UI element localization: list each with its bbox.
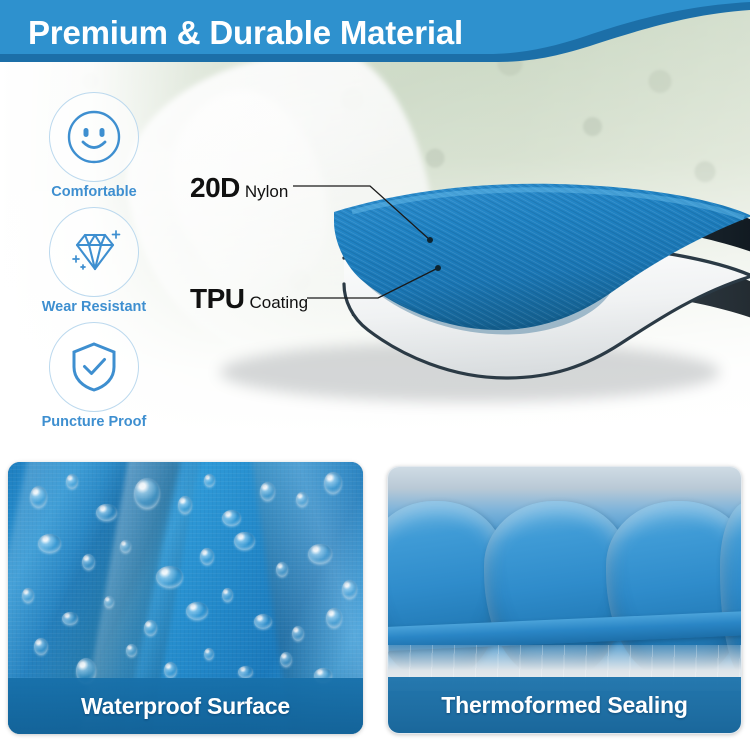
- sealing-caption-text: Thermoformed Sealing: [441, 692, 688, 719]
- material-layers-diagram: 20DNylon TPUCoating: [0, 0, 750, 452]
- material-layers-artwork: [0, 0, 750, 452]
- callout-nylon-emphasis: 20D: [190, 172, 240, 203]
- panel-row: Waterproof Surface Thermoformed Sealing: [0, 452, 750, 750]
- callout-nylon: 20DNylon: [190, 172, 288, 204]
- callout-nylon-detail: Nylon: [245, 182, 288, 201]
- waterproof-surface-panel: Waterproof Surface: [8, 462, 363, 734]
- product-infographic: Premium & Durable Material Comfortable: [0, 0, 750, 750]
- waterproof-caption-bar: Waterproof Surface: [8, 678, 363, 734]
- waterproof-caption-text: Waterproof Surface: [81, 693, 290, 720]
- callout-tpu-detail: Coating: [250, 293, 309, 312]
- callout-tpu: TPUCoating: [190, 283, 308, 315]
- top-section: Premium & Durable Material Comfortable: [0, 0, 750, 452]
- sealing-caption-bar: Thermoformed Sealing: [388, 677, 741, 733]
- thermoformed-sealing-panel: Thermoformed Sealing: [387, 466, 742, 734]
- callout-tpu-emphasis: TPU: [190, 283, 245, 314]
